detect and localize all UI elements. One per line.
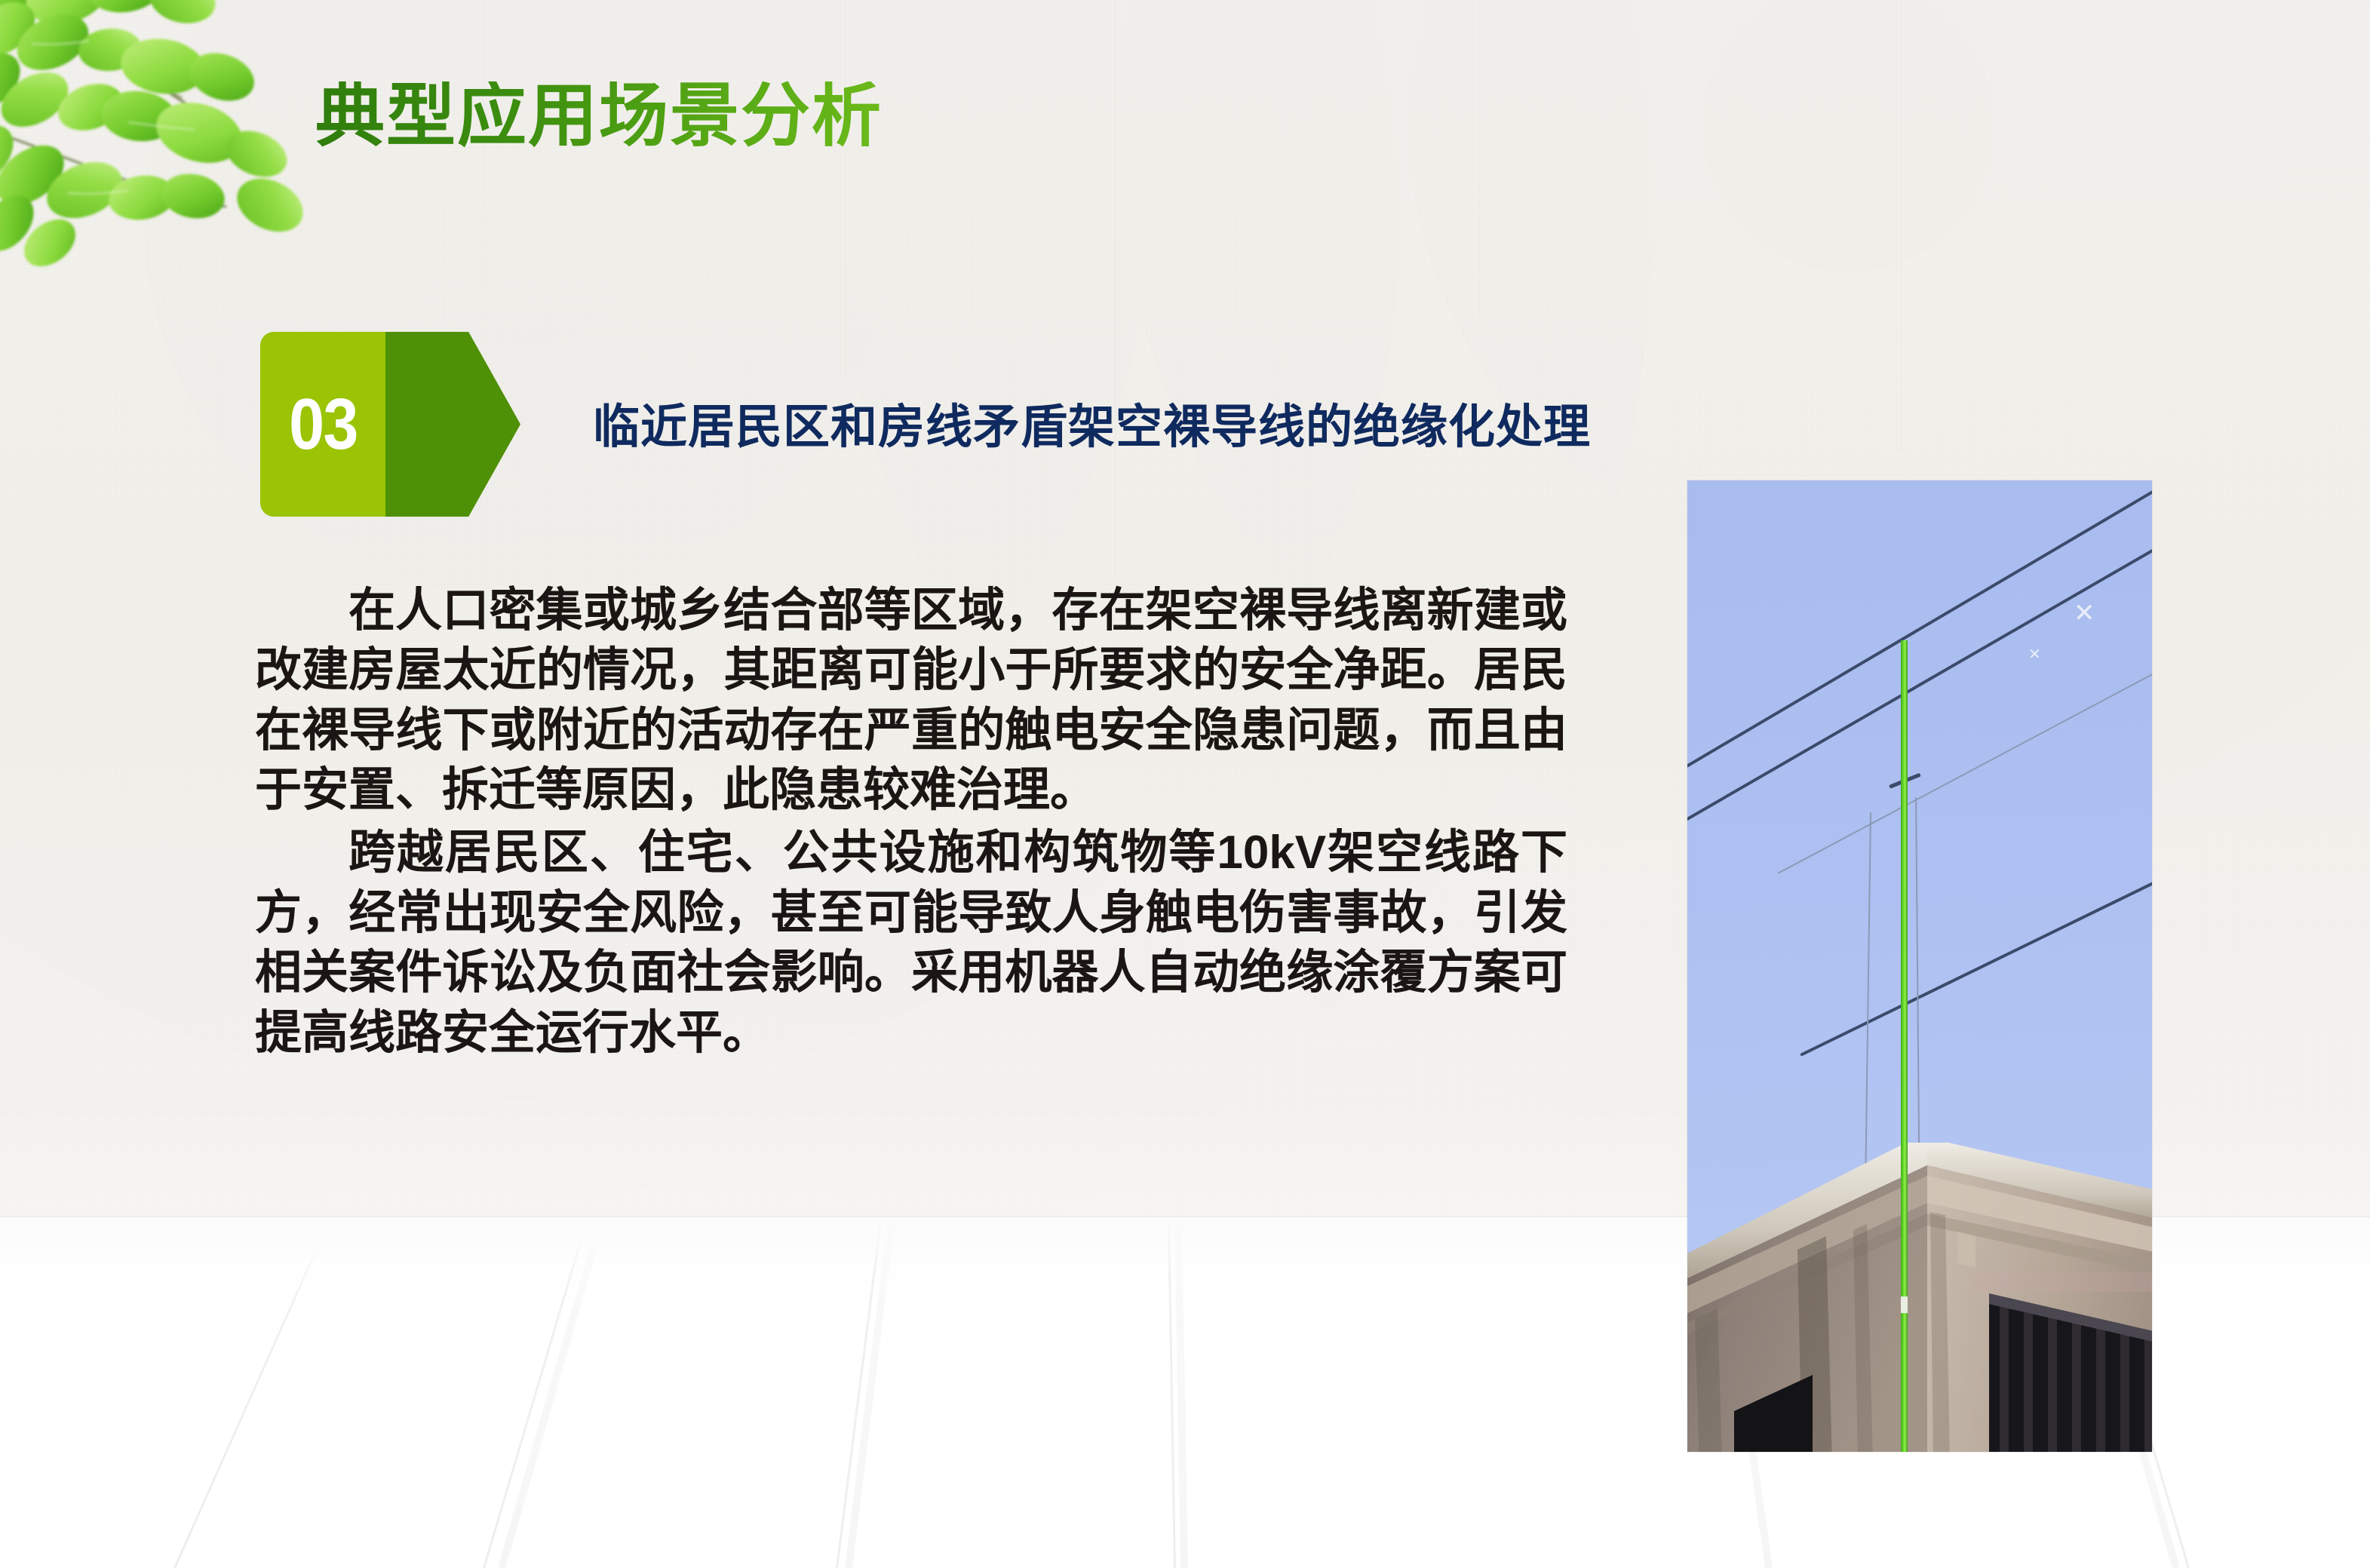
body-paragraph-2: 跨越居民区、住宅、公共设施和构筑物等10kV架空线路下方，经常出现安全风险，甚至… — [255, 823, 1567, 1062]
section-heading: 临近居民区和房线矛盾架空裸导线的绝缘化处理 — [593, 402, 1591, 453]
green-insulating-pole — [1901, 640, 1908, 1452]
pole-marker-band — [1901, 1296, 1908, 1313]
badge-number-block: 03 — [260, 332, 385, 517]
slide-canvas: 典型应用场景分析 03 临近居民区和房线矛盾架空裸导线的绝缘化处理 在人口密集或… — [0, 0, 2370, 1568]
page-title: 典型应用场景分析 — [315, 81, 883, 151]
photo-sparkle-icon: ✕ — [2074, 598, 2095, 628]
photo-sparkle-icon: ✕ — [2028, 645, 2041, 664]
photo-building — [1687, 1070, 2152, 1452]
badge-arrow-shape — [384, 332, 520, 517]
badge-number-label: 03 — [289, 388, 357, 461]
scenario-photo: ✕ ✕ — [1687, 480, 2152, 1452]
body-paragraph-1: 在人口密集或城乡结合部等区域，存在架空裸导线离新建或改建房屋太近的情况，其距离可… — [255, 581, 1567, 820]
section-number-badge: 03 — [260, 332, 520, 517]
body-copy: 在人口密集或城乡结合部等区域，存在架空裸导线离新建或改建房屋太近的情况，其距离可… — [255, 581, 1567, 1066]
